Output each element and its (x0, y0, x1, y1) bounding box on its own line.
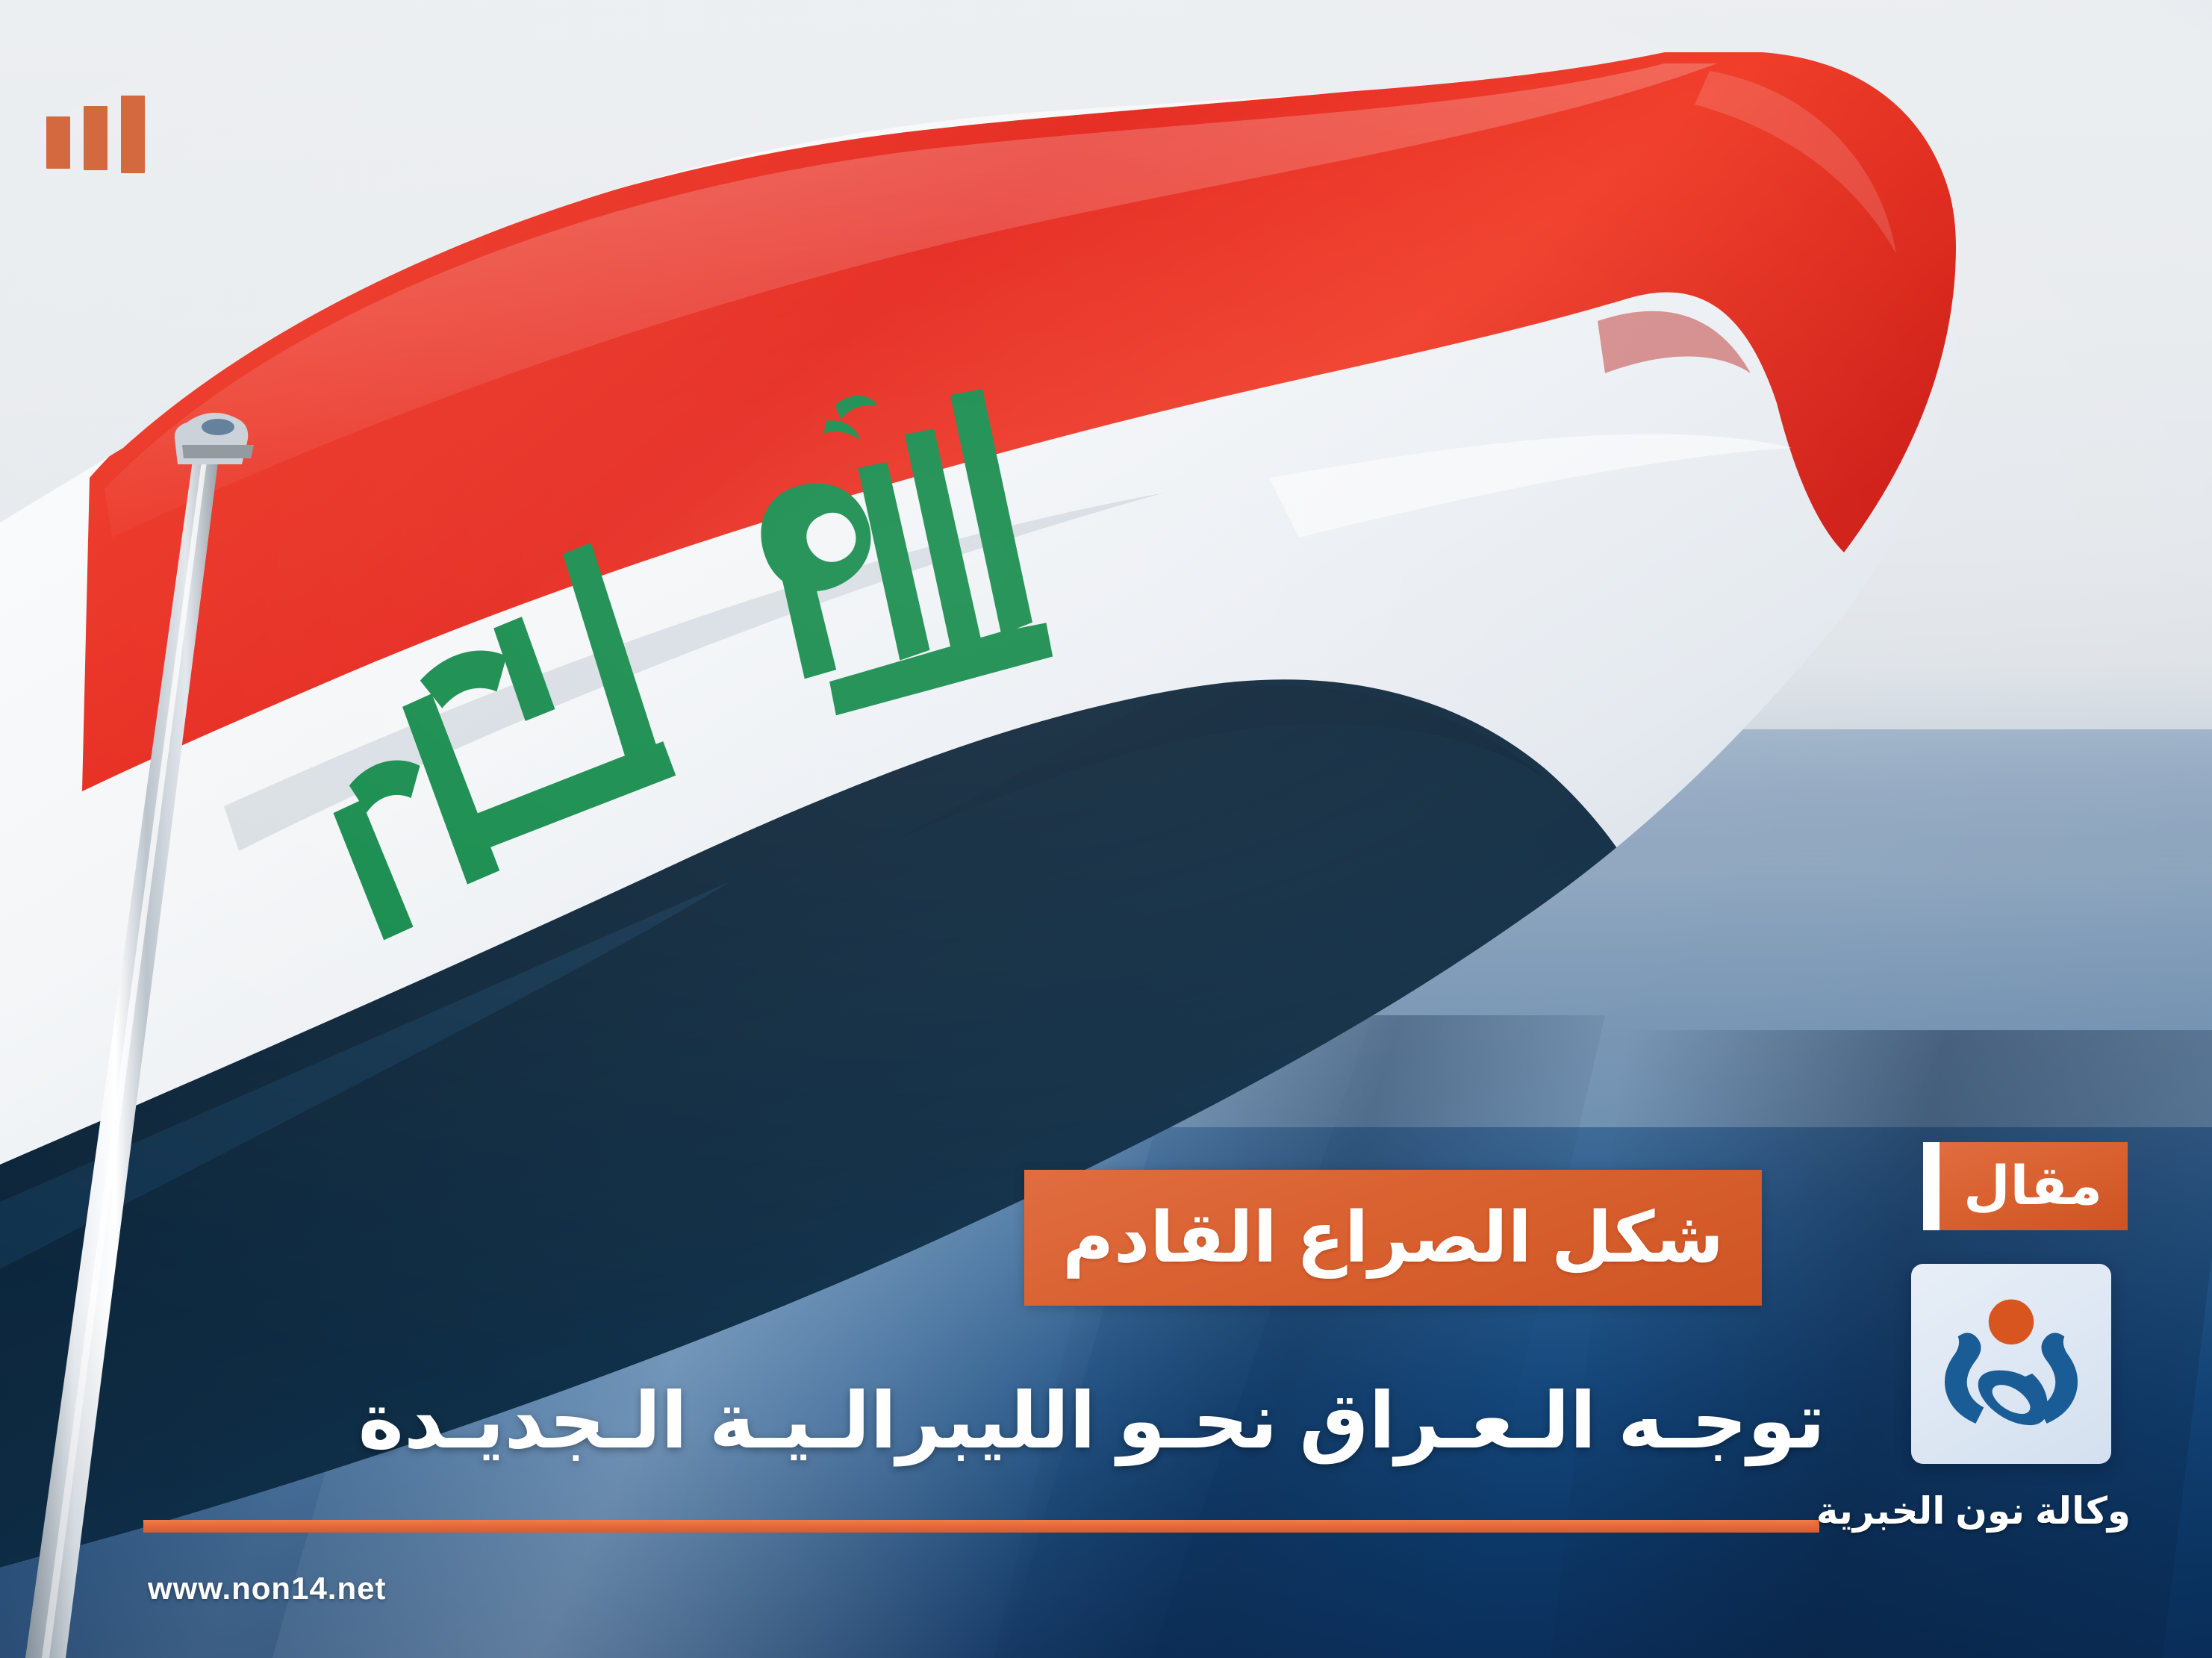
brand-cluster: مقال وكالة نون الخبرية (1822, 1142, 2172, 1560)
agency-name: وكالة نون الخبرية (1816, 1489, 2131, 1533)
status-badge: مقال (1938, 1142, 2128, 1230)
badge-accent-bar (1923, 1142, 1940, 1230)
headline-block: توجـه الـعـراق نحـو الليبرالـيـة الـجديـ… (321, 1359, 1825, 1486)
website-url[interactable]: www.non14.net (148, 1571, 386, 1606)
three-bars-icon (46, 96, 145, 173)
noon-agency-logo-icon (1931, 1283, 2092, 1444)
divider-rule (143, 1520, 1819, 1533)
bar-2 (84, 106, 108, 170)
bar-1 (121, 96, 145, 173)
page-title: توجـه الـعـراق نحـو الليبرالـيـة الـجديـ… (358, 1381, 1825, 1462)
status-badge-label: مقال (1963, 1159, 2102, 1213)
kicker-banner: شكل الصراع القادم (1024, 1170, 1762, 1306)
kicker-label: شكل الصراع القادم (1062, 1203, 1724, 1273)
agency-logo-tile (1911, 1264, 2111, 1464)
article-badge-row: مقال (1923, 1142, 2128, 1230)
bar-3 (46, 116, 70, 169)
article-cover-card: شكل الصراع القادم توجـه الـعـراق نحـو ال… (0, 0, 2212, 1658)
